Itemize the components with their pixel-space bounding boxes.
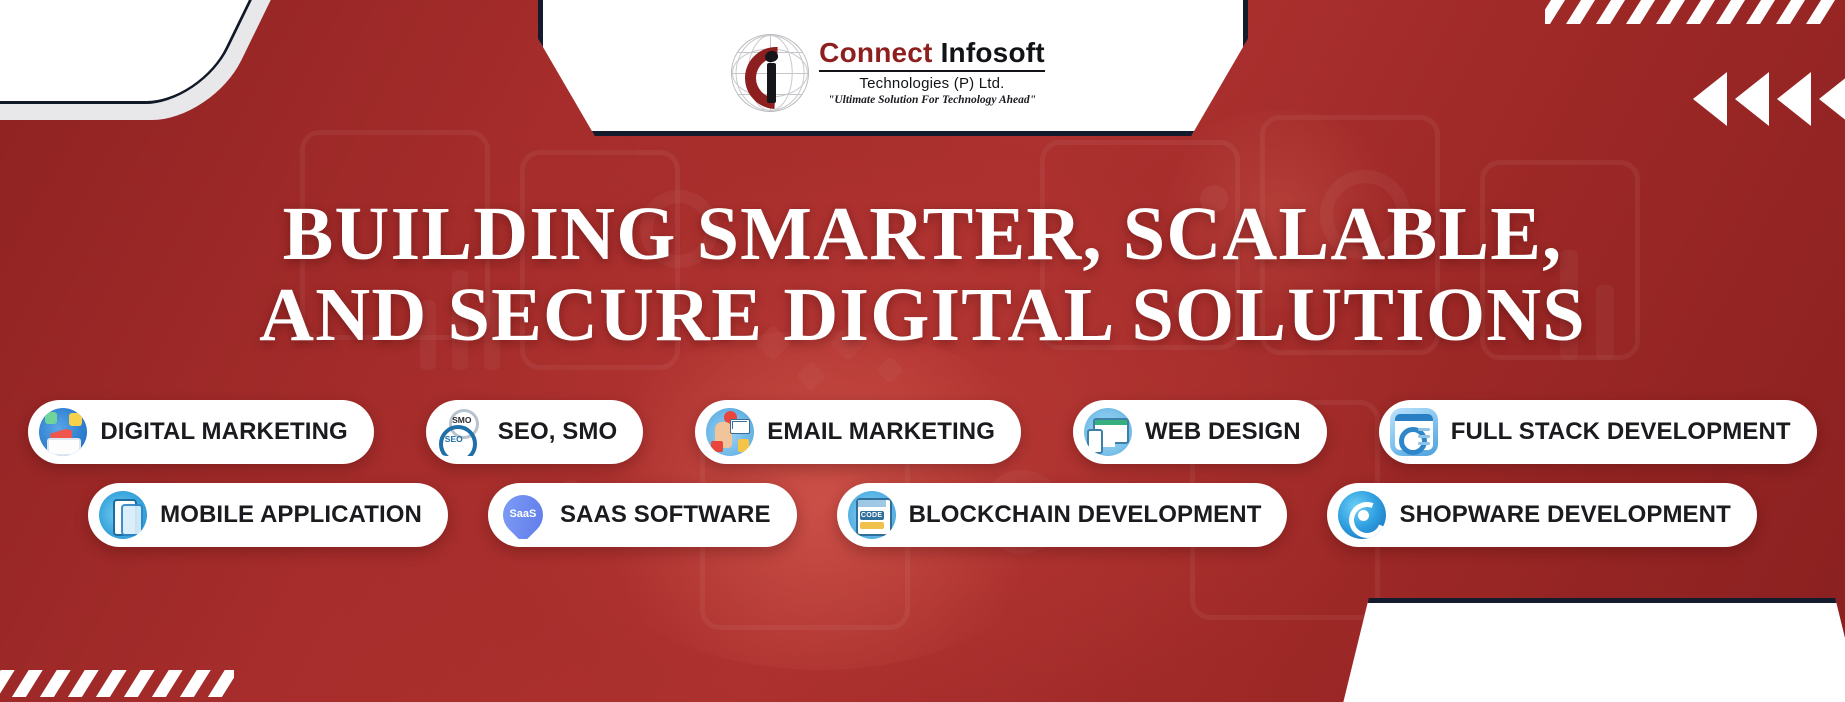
blockchain-icon-text: CODE bbox=[860, 511, 884, 520]
headline-line-1: BUILDING SMARTER, SCALABLE, bbox=[0, 194, 1845, 275]
digital-marketing-icon bbox=[39, 408, 87, 456]
panel-bottom-right bbox=[1337, 598, 1845, 702]
service-label: WEB DESIGN bbox=[1145, 418, 1301, 446]
saas-icon-text: SaaS bbox=[499, 508, 547, 520]
service-pill-shopware-development[interactable]: SHOPWARE DEVELOPMENT bbox=[1327, 483, 1756, 547]
service-label: MOBILE APPLICATION bbox=[160, 501, 422, 529]
service-pill-full-stack-development[interactable]: FULL STACK DEVELOPMENT bbox=[1379, 400, 1817, 464]
seo-icon-text-bottom: SEO bbox=[440, 434, 468, 444]
service-label: SHOPWARE DEVELOPMENT bbox=[1399, 501, 1730, 529]
blockchain-development-icon: CODE bbox=[848, 491, 896, 539]
promo-banner: Connect Infosoft Technologies (P) Ltd. "… bbox=[0, 0, 1845, 702]
brand-divider bbox=[819, 70, 1045, 72]
mobile-application-icon bbox=[99, 491, 147, 539]
service-pill-digital-marketing[interactable]: DIGITAL MARKETING bbox=[28, 400, 373, 464]
service-pill-web-design[interactable]: WEB DESIGN bbox=[1073, 400, 1327, 464]
web-design-icon bbox=[1084, 408, 1132, 456]
service-label: SAAS SOFTWARE bbox=[560, 501, 771, 529]
service-pill-mobile-application[interactable]: MOBILE APPLICATION bbox=[88, 483, 448, 547]
headline-line-2: AND SECURE DIGITAL SOLUTIONS bbox=[0, 275, 1845, 356]
chevron-left-arrows-icon bbox=[1693, 72, 1845, 126]
service-label: DIGITAL MARKETING bbox=[100, 418, 347, 446]
brand-name-primary: Connect bbox=[819, 37, 932, 68]
brand-name-secondary: Infosoft bbox=[941, 37, 1045, 68]
service-pill-blockchain-development[interactable]: CODE BLOCKCHAIN DEVELOPMENT bbox=[837, 483, 1288, 547]
shopware-development-icon bbox=[1338, 491, 1386, 539]
service-label: FULL STACK DEVELOPMENT bbox=[1451, 418, 1791, 446]
seo-icon-text-top: SMO bbox=[451, 415, 473, 425]
service-label: SEO, SMO bbox=[498, 418, 618, 446]
seo-smo-icon: SMO SEO bbox=[437, 408, 485, 456]
service-list-row-1: DIGITAL MARKETING SMO SEO SEO, SMO EMAIL… bbox=[0, 400, 1845, 464]
stripes-bottom-left bbox=[0, 670, 234, 698]
service-pill-email-marketing[interactable]: EMAIL MARKETING bbox=[695, 400, 1021, 464]
service-pill-saas-software[interactable]: SaaS SAAS SOFTWARE bbox=[488, 483, 797, 547]
email-marketing-icon bbox=[706, 408, 754, 456]
brand-tagline: "Ultimate Solution For Technology Ahead" bbox=[819, 95, 1045, 107]
brand-subtitle: Technologies (P) Ltd. bbox=[819, 76, 1045, 91]
stripes-top-right bbox=[1545, 0, 1845, 24]
service-label: EMAIL MARKETING bbox=[767, 418, 995, 446]
service-list-row-2: MOBILE APPLICATION SaaS SAAS SOFTWARE CO… bbox=[0, 483, 1845, 547]
brand-logo[interactable]: Connect Infosoft Technologies (P) Ltd. "… bbox=[731, 34, 1045, 122]
service-label: BLOCKCHAIN DEVELOPMENT bbox=[909, 501, 1262, 529]
brand-wordmark: Connect Infosoft Technologies (P) Ltd. "… bbox=[819, 39, 1045, 107]
globe-c-i-icon bbox=[731, 34, 809, 112]
saas-software-icon: SaaS bbox=[499, 491, 547, 539]
full-stack-development-icon bbox=[1390, 408, 1438, 456]
service-pill-seo-smo[interactable]: SMO SEO SEO, SMO bbox=[426, 400, 644, 464]
page-title: BUILDING SMARTER, SCALABLE, AND SECURE D… bbox=[0, 194, 1845, 357]
logo-band-content: Connect Infosoft Technologies (P) Ltd. "… bbox=[538, 0, 1238, 122]
